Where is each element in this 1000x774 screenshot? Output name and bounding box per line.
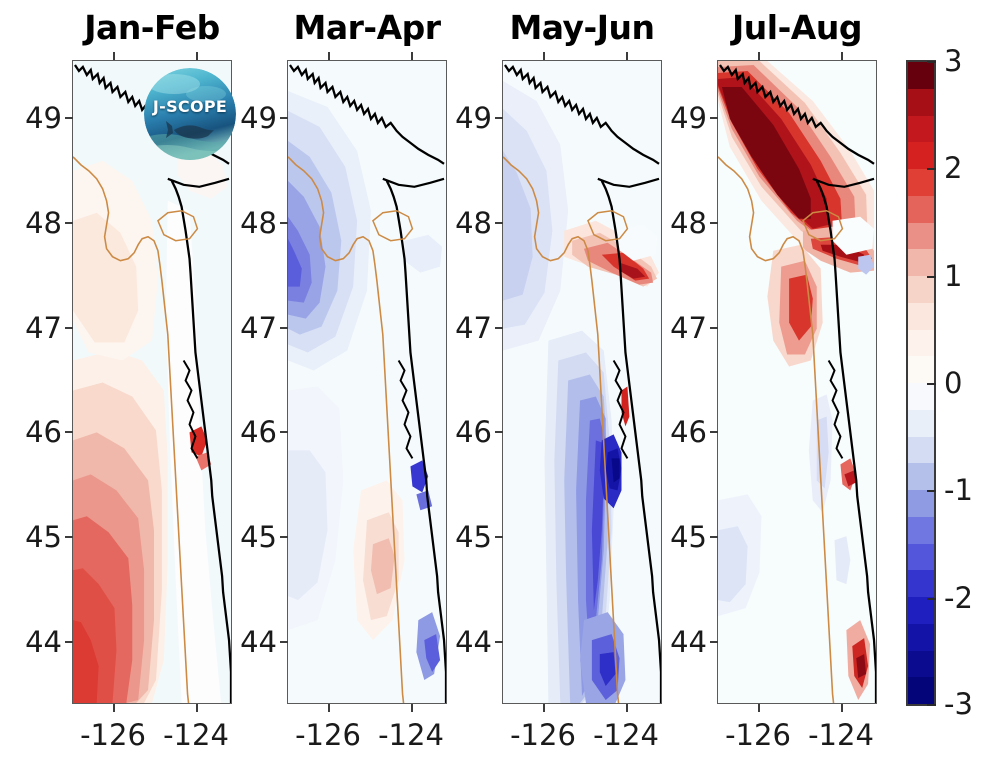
ytick-mark <box>495 222 503 224</box>
xtick-mark <box>113 52 115 60</box>
xtick-mark <box>411 52 413 60</box>
xtick-mark <box>626 52 628 60</box>
xtick-mark <box>196 52 198 60</box>
ytick-mark <box>280 222 288 224</box>
ytick-mark <box>280 117 288 119</box>
colorbar-band <box>908 169 934 197</box>
colorbar-band <box>908 330 934 358</box>
ytick-mark <box>495 536 503 538</box>
colorbar-tick <box>927 276 936 278</box>
colorbar-band <box>908 356 934 384</box>
xtick-mark <box>758 704 760 712</box>
colorbar-band <box>908 196 934 224</box>
ytick-mark <box>280 327 288 329</box>
map-panel-may-jun[interactable] <box>502 60 662 704</box>
ytick-label-47-p3: 47 <box>440 311 492 345</box>
colorbar-label-neg3: -3 <box>944 687 973 721</box>
ytick-label-48-p1: 48 <box>10 206 62 240</box>
ytick-mark <box>710 536 718 538</box>
ytick-mark <box>280 536 288 538</box>
colorbar-band <box>908 570 934 598</box>
xtick-mark <box>841 52 843 60</box>
map-raster-may-jun <box>503 61 661 703</box>
ytick-label-49-p1: 49 <box>10 101 62 135</box>
colorbar-band <box>908 383 934 411</box>
ytick-label-44-p3: 44 <box>440 625 492 659</box>
j-scope-logo: J-SCOPE <box>144 68 236 160</box>
colorbar-band <box>908 597 934 625</box>
logo-graphic: J-SCOPE <box>144 68 236 160</box>
colorbar-band <box>908 463 934 491</box>
ytick-mark <box>710 431 718 433</box>
colorbar-band <box>908 517 934 545</box>
ytick-mark <box>280 641 288 643</box>
logo-text: J-SCOPE <box>152 97 227 116</box>
colorbar-band <box>908 437 934 465</box>
xtick-mark <box>328 52 330 60</box>
colorbar-band <box>908 544 934 572</box>
map-panel-mar-apr[interactable] <box>287 60 447 704</box>
colorbar-band <box>908 142 934 170</box>
map-panel-jan-feb[interactable] <box>72 60 232 704</box>
ytick-label-48-p2: 48 <box>225 206 277 240</box>
colorbar-tick <box>927 61 936 63</box>
ytick-label-47-p4: 47 <box>655 311 707 345</box>
colorbar-label-1: 1 <box>944 259 962 293</box>
ytick-label-45-p1: 45 <box>10 520 62 554</box>
ytick-label-47-p2: 47 <box>225 311 277 345</box>
colorbar-band <box>908 624 934 652</box>
ytick-label-49-p3: 49 <box>440 101 492 135</box>
ytick-label-46-p3: 46 <box>440 415 492 449</box>
ytick-mark <box>65 431 73 433</box>
map-raster-jan-feb <box>73 61 231 703</box>
ytick-mark <box>710 222 718 224</box>
colorbar-label-2: 2 <box>944 151 962 185</box>
ytick-mark <box>495 327 503 329</box>
xtick-mark <box>841 704 843 712</box>
colorbar-band <box>908 276 934 304</box>
figure-canvas: Jan-Feb Mar-Apr May-Jun Jul-Aug <box>0 0 1000 774</box>
ytick-label-45-p2: 45 <box>225 520 277 554</box>
ytick-label-49-p2: 49 <box>225 101 277 135</box>
colorbar-band <box>908 62 934 90</box>
ytick-mark <box>65 117 73 119</box>
xtick-mark <box>113 704 115 712</box>
xtick-mark <box>411 704 413 712</box>
xtick-mark <box>543 704 545 712</box>
ytick-mark <box>65 536 73 538</box>
colorbar-label-neg1: -1 <box>944 473 973 507</box>
ytick-label-44-p2: 44 <box>225 625 277 659</box>
ytick-label-48-p3: 48 <box>440 206 492 240</box>
ytick-label-48-p4: 48 <box>655 206 707 240</box>
colorbar-band <box>908 116 934 144</box>
ytick-mark <box>65 641 73 643</box>
colorbar-band <box>908 490 934 518</box>
ytick-mark <box>495 641 503 643</box>
ytick-label-46-p2: 46 <box>225 415 277 449</box>
ytick-mark <box>710 641 718 643</box>
colorbar-tick <box>927 598 936 600</box>
xtick-mark <box>543 52 545 60</box>
xtick-label-124-p4: -124 <box>786 718 896 752</box>
colorbar-band <box>908 223 934 251</box>
ytick-label-46-p1: 46 <box>10 415 62 449</box>
ytick-label-45-p4: 45 <box>655 520 707 554</box>
panel-title-mar-apr: Mar-Apr <box>287 8 447 47</box>
colorbar-tick <box>927 168 936 170</box>
ytick-label-49-p4: 49 <box>655 101 707 135</box>
ytick-mark <box>280 431 288 433</box>
colorbar-tick <box>927 490 936 492</box>
colorbar-label-3: 3 <box>944 44 962 78</box>
colorbar-band <box>908 249 934 277</box>
panel-title-jan-feb: Jan-Feb <box>72 8 232 47</box>
colorbar-band <box>908 410 934 438</box>
ytick-label-45-p3: 45 <box>440 520 492 554</box>
xtick-mark <box>196 704 198 712</box>
ytick-label-44-p4: 44 <box>655 625 707 659</box>
ytick-mark <box>65 222 73 224</box>
ytick-mark <box>710 327 718 329</box>
colorbar-band <box>908 651 934 679</box>
xtick-mark <box>758 52 760 60</box>
ytick-mark <box>710 117 718 119</box>
colorbar-band <box>908 303 934 331</box>
ytick-mark <box>65 327 73 329</box>
xtick-mark <box>626 704 628 712</box>
colorbar-label-neg2: -2 <box>944 581 973 615</box>
ytick-mark <box>495 431 503 433</box>
xtick-label-124-p1: -124 <box>141 718 251 752</box>
map-raster-mar-apr <box>288 61 446 703</box>
ytick-label-44-p1: 44 <box>10 625 62 659</box>
xtick-mark <box>328 704 330 712</box>
colorbar-tick <box>927 383 936 385</box>
xtick-label-124-p2: -124 <box>356 718 466 752</box>
colorbar-band <box>908 89 934 117</box>
colorbar-band <box>908 677 934 705</box>
ytick-label-47-p1: 47 <box>10 311 62 345</box>
ytick-label-46-p4: 46 <box>655 415 707 449</box>
colorbar-tick <box>927 704 936 706</box>
xtick-label-124-p3: -124 <box>571 718 681 752</box>
panel-title-may-jun: May-Jun <box>502 8 662 47</box>
colorbar-label-0: 0 <box>944 366 962 400</box>
map-raster-jul-aug <box>718 61 876 703</box>
ytick-mark <box>495 117 503 119</box>
map-panel-jul-aug[interactable] <box>717 60 877 704</box>
panel-title-jul-aug: Jul-Aug <box>717 8 877 47</box>
